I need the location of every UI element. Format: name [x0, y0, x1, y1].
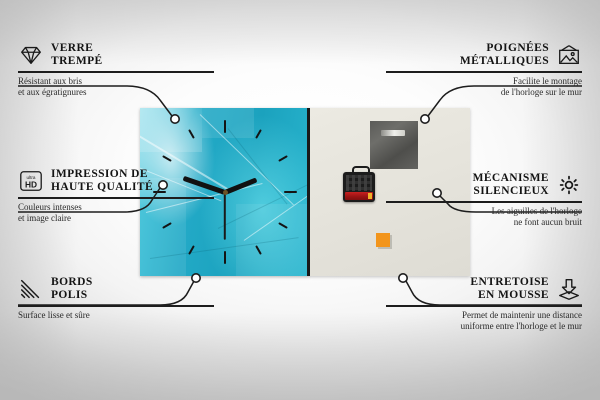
feature-title-line1: BORDS: [51, 276, 93, 289]
feature-title-line2: EN MOUSSE: [470, 289, 549, 302]
ultra-hd-big-label: HD: [25, 180, 37, 190]
feature-subtitle-line1: Permet de maintenir une distance: [386, 310, 582, 321]
feature-impression-hd: ultra HD IMPRESSION DE HAUTE QUALITÉ Cou…: [18, 168, 214, 224]
picture-frame-icon: [556, 43, 582, 67]
feature-title-line2: POLIS: [51, 289, 93, 302]
feature-title-line1: ENTRETOISE: [470, 276, 549, 289]
feature-divider: [18, 197, 214, 199]
feature-subtitle-line2: de l'horloge sur le mur: [386, 87, 582, 98]
connector-dot-poignees: [421, 115, 429, 123]
feature-title-line2: SILENCIEUX: [473, 185, 549, 198]
feature-title-line2: TREMPÉ: [51, 55, 103, 68]
feature-subtitle-line2: uniforme entre l'horloge et le mur: [386, 321, 582, 332]
feature-title-line1: MÉCANISME: [473, 172, 549, 185]
feature-subtitle-line1: Facilite le montage: [386, 76, 582, 87]
polished-edges-icon: [18, 277, 44, 301]
feature-divider: [386, 305, 582, 307]
feature-title-line1: IMPRESSION DE: [51, 168, 153, 181]
feature-divider: [386, 201, 582, 203]
feature-subtitle-line2: et image claire: [18, 213, 214, 224]
feature-title-line1: POIGNÉES: [460, 42, 549, 55]
feature-divider: [386, 71, 582, 73]
ultra-hd-icon: ultra HD: [18, 169, 44, 193]
feature-subtitle-line1: Résistant aux bris: [18, 76, 214, 87]
feature-poignees-metalliques: POIGNÉES MÉTALLIQUES Facilite le montage…: [386, 42, 582, 98]
feature-verre-trempe: VERRE TREMPÉ Résistant aux bris et aux é…: [18, 42, 214, 98]
feature-title-line1: VERRE: [51, 42, 103, 55]
feature-entretoise-mousse: ENTRETOISE EN MOUSSE Permet de maintenir…: [386, 276, 582, 332]
feature-subtitle-line2: ne font aucun bruit: [386, 217, 582, 228]
infographic-canvas: VERRE TREMPÉ Résistant aux bris et aux é…: [0, 0, 600, 400]
feature-divider: [18, 305, 214, 307]
press-down-icon: [556, 277, 582, 301]
feature-bords-polis: BORDS POLIS Surface lisse et sûre: [18, 276, 214, 321]
feature-mecanisme-silencieux: MÉCANISME SILENCIEUX Les aiguilles de l'…: [386, 172, 582, 228]
feature-subtitle-line1: Couleurs intenses: [18, 202, 214, 213]
diamond-icon: [18, 43, 44, 67]
feature-title-line2: MÉTALLIQUES: [460, 55, 549, 68]
feature-subtitle-line2: et aux égratignures: [18, 87, 214, 98]
gear-icon: [556, 173, 582, 197]
feature-subtitle-line1: Les aiguilles de l'horloge: [386, 206, 582, 217]
connector-dot-verre-trempe: [171, 115, 179, 123]
feature-title-line2: HAUTE QUALITÉ: [51, 181, 153, 194]
feature-divider: [18, 71, 214, 73]
feature-subtitle-line1: Surface lisse et sûre: [18, 310, 214, 321]
